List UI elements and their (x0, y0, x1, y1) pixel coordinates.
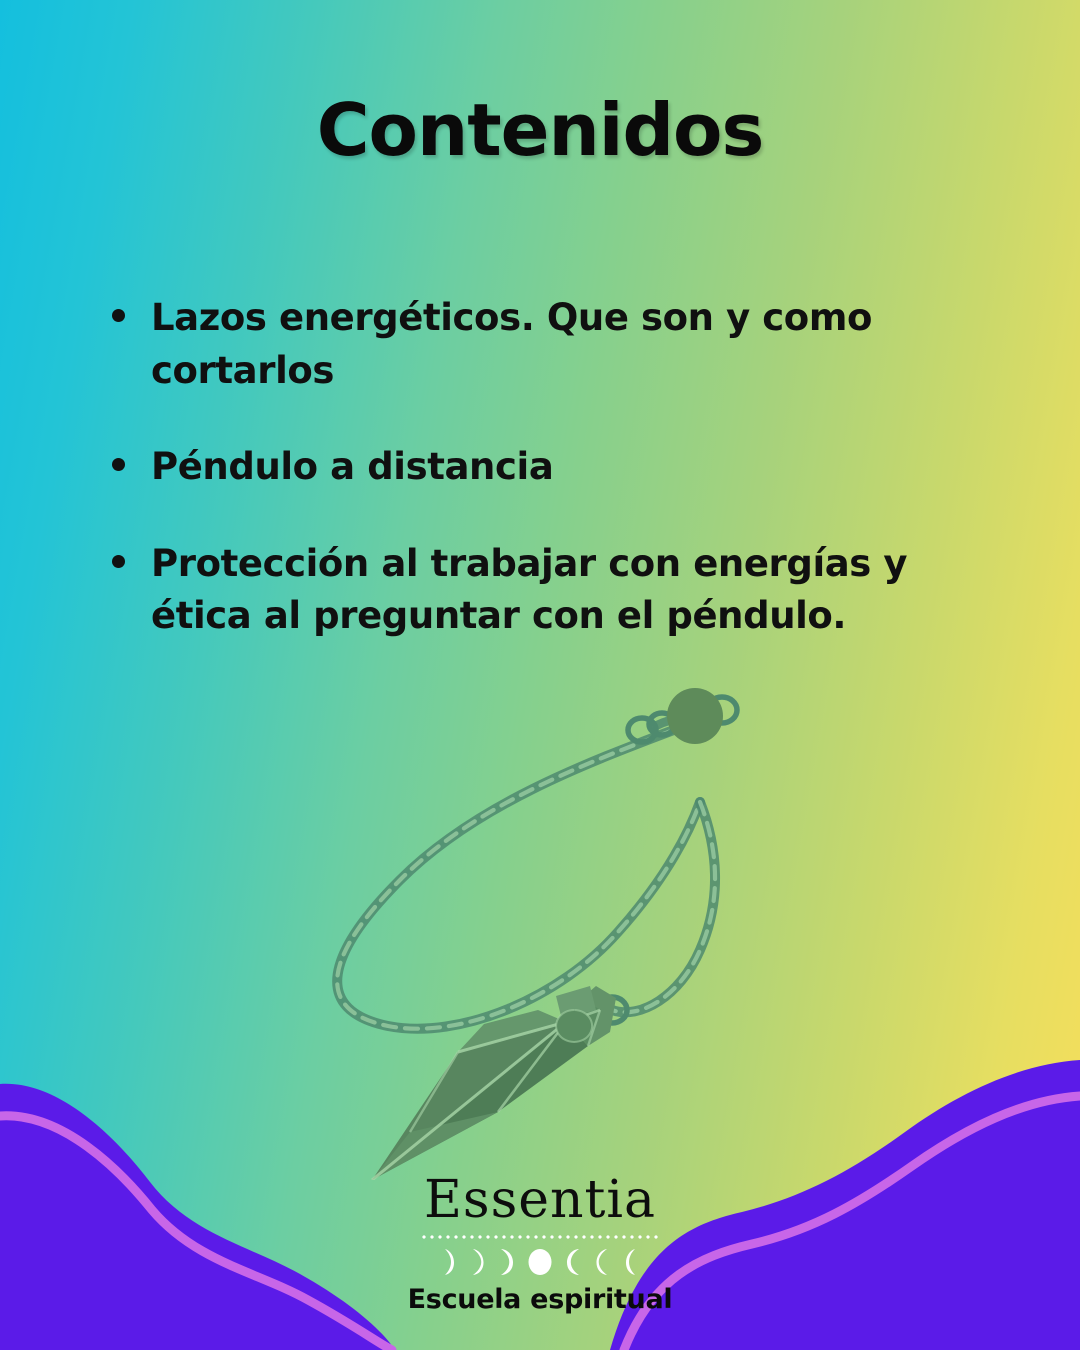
bullet-dot-icon (112, 555, 125, 568)
chain-ring-icon (581, 1004, 607, 1028)
list-item: Protección al trabajar con energías y ét… (112, 538, 1012, 643)
chain-ring-icon (649, 713, 675, 735)
contents-list: Lazos energéticos. Que son y como cortar… (112, 292, 1012, 687)
chain-ring-icon (597, 997, 627, 1023)
brand-subtitle: Escuela espiritual (0, 1284, 1080, 1315)
list-item: Lazos energéticos. Que son y como cortar… (112, 292, 1012, 397)
bullet-dot-icon (112, 458, 125, 471)
page-title: Contenidos (0, 88, 1080, 172)
chain-ring-icon (707, 697, 737, 723)
brand-logo: Essentia Esc (0, 1174, 1080, 1315)
brand-wordmark: Essentia (0, 1174, 1080, 1226)
list-item-label: Lazos energéticos. Que son y como cortar… (151, 292, 981, 397)
full-moon-icon (526, 1247, 554, 1277)
waning-crescent-2-icon (618, 1247, 644, 1277)
bullet-dot-icon (112, 309, 125, 322)
waning-crescent-1-icon (588, 1247, 614, 1277)
dotted-divider (420, 1235, 660, 1239)
list-item: Péndulo a distancia (112, 441, 1012, 494)
waxing-crescent-2-icon (466, 1247, 492, 1277)
poster-canvas: Contenidos Lazos energéticos. Que son y … (0, 0, 1080, 1350)
waxing-crescent-1-icon (436, 1247, 462, 1277)
list-item-label: Protección al trabajar con energías y ét… (151, 538, 981, 643)
moon-phase-row (0, 1246, 1080, 1278)
waning-gibbous-icon (558, 1247, 584, 1277)
list-item-label: Péndulo a distancia (151, 441, 553, 494)
chain-ring-icon (628, 718, 656, 742)
pendulum-bead (667, 688, 723, 744)
waxing-gibbous-icon (496, 1247, 522, 1277)
